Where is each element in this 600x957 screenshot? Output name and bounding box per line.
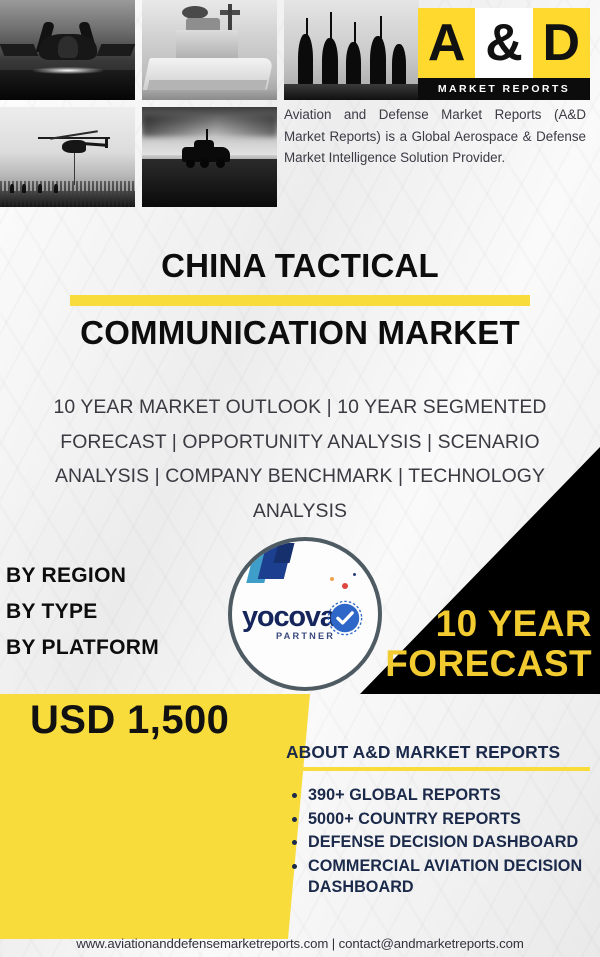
logo-letter-d: D	[533, 8, 590, 78]
about-bullet-list: 390+ GLOBAL REPORTS 5000+ COUNTRY REPORT…	[308, 785, 592, 898]
badge-dot-navy	[353, 573, 356, 576]
report-title-line-2: COMMUNICATION MARKET	[0, 313, 600, 353]
yocova-partner-badge: yocova PARTNER	[228, 537, 382, 691]
price-label: USD 1,500	[30, 698, 229, 743]
list-item: 390+ GLOBAL REPORTS	[308, 785, 592, 806]
badge-decor-shape-dark	[274, 543, 295, 563]
list-item: DEFENSE DECISION DASHBOARD	[308, 832, 592, 853]
warship-photo	[142, 0, 277, 100]
about-heading: ABOUT A&D MARKET REPORTS	[286, 742, 592, 763]
list-item: 5000+ COUNTRY REPORTS	[308, 809, 592, 830]
poster-root: A & D MARKET REPORTS Aviation and Defens…	[0, 0, 600, 957]
logo-letter-a: A	[418, 8, 475, 78]
report-scope-subtitle: 10 YEAR MARKET OUTLOOK | 10 YEAR SEGMENT…	[20, 390, 580, 528]
segmentation-item-platform: BY PLATFORM	[6, 630, 159, 666]
title-divider-rule	[70, 295, 530, 306]
soldiers-silhouette-photo	[284, 0, 419, 100]
segmentation-item-type: BY TYPE	[6, 594, 159, 630]
segmentation-list: BY REGION BY TYPE BY PLATFORM	[6, 558, 159, 666]
company-intro-text: Aviation and Defense Market Reports (A&D…	[284, 104, 586, 169]
armoured-vehicle-photo	[142, 107, 277, 207]
report-title-line-1: CHINA TACTICAL	[0, 246, 600, 286]
report-title: CHINA TACTICAL COMMUNICATION MARKET	[0, 246, 600, 354]
footer-contact-text: www.aviationanddefensemarketreports.com …	[76, 936, 523, 951]
segmentation-item-region: BY REGION	[6, 558, 159, 594]
ad-market-reports-logo: A & D MARKET REPORTS	[418, 8, 590, 100]
logo-tagline: MARKET REPORTS	[438, 83, 570, 95]
badge-dot-orange	[330, 577, 334, 581]
about-heading-rule	[286, 767, 590, 771]
footer-contact-bar: www.aviationanddefensemarketreports.com …	[0, 929, 600, 957]
verified-check-seal-icon	[326, 599, 364, 637]
logo-tagline-bar: MARKET REPORTS	[418, 78, 590, 100]
list-item: COMMERCIAL AVIATION DECISION DASHBOARD	[308, 856, 592, 897]
about-section: ABOUT A&D MARKET REPORTS 390+ GLOBAL REP…	[286, 742, 592, 901]
badge-dot-red	[342, 583, 348, 589]
logo-ampersand: &	[475, 8, 532, 78]
fighter-jet-photo	[0, 0, 135, 100]
helicopter-photo	[0, 107, 135, 207]
logo-letters-row: A & D	[418, 8, 590, 78]
